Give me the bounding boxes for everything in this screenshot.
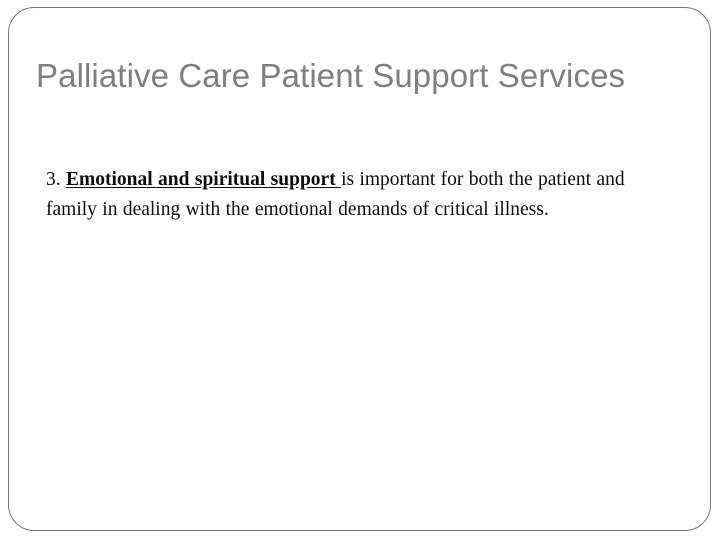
list-number: 3. — [46, 169, 66, 190]
presentation-slide: Palliative Care Patient Support Services… — [0, 0, 720, 540]
slide-body-container: 3. Emotional and spiritual support is im… — [46, 165, 656, 225]
emphasized-phrase: Emotional and spiritual support — [66, 169, 341, 190]
slide-title-container: Palliative Care Patient Support Services — [36, 50, 656, 102]
body-paragraph: 3. Emotional and spiritual support is im… — [46, 165, 656, 225]
page-title: Palliative Care Patient Support Services — [36, 50, 656, 102]
